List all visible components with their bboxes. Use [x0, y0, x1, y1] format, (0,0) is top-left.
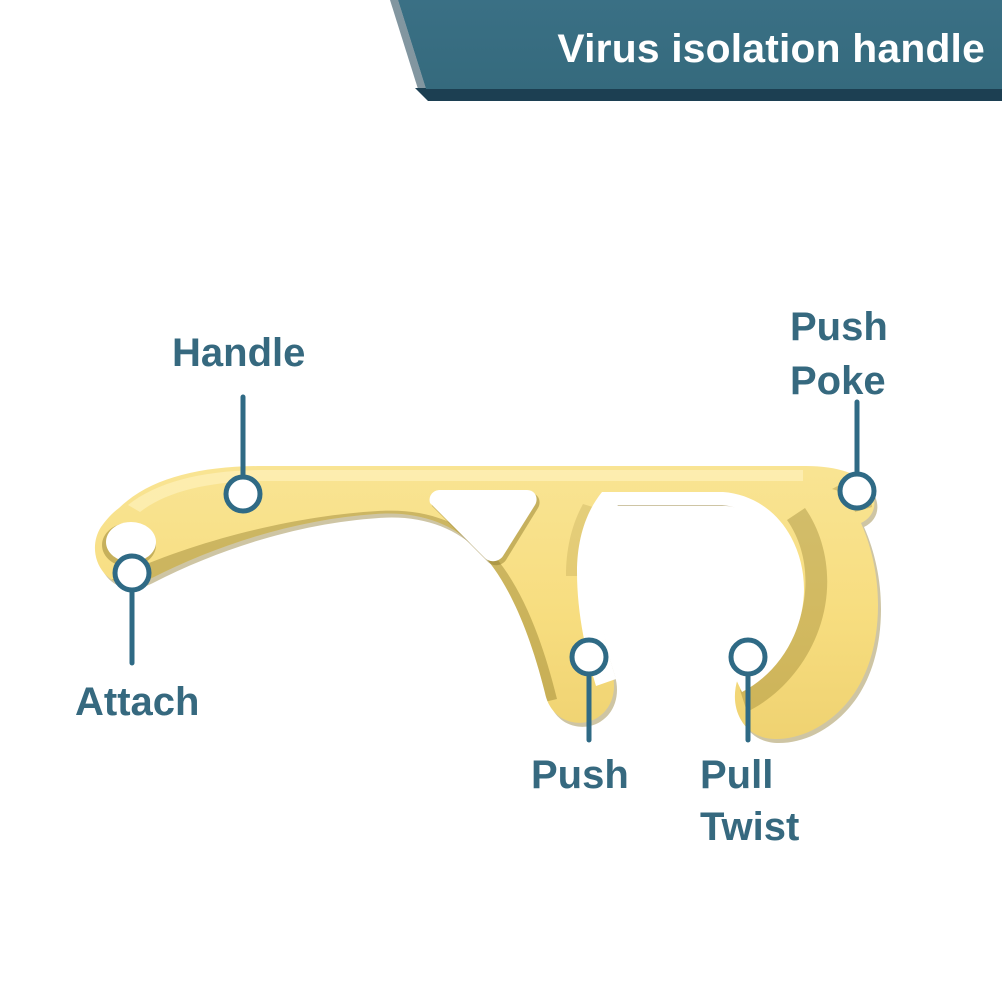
- header-banner: Virus isolation handle: [390, 0, 1002, 101]
- callout-attach-marker[interactable]: [115, 556, 149, 590]
- callout-pull-twist-label-line1: Pull: [700, 753, 773, 797]
- callout-pull-twist-label-line2: Twist: [700, 805, 799, 849]
- virus-isolation-handle-illustration: Virus isolation handle: [0, 0, 1002, 1002]
- callout-handle-label: Handle: [172, 331, 305, 375]
- callout-handle-marker[interactable]: [226, 477, 260, 511]
- hook-opening: [577, 492, 804, 692]
- callout-attach-label: Attach: [75, 680, 199, 724]
- callout-push-label: Push: [531, 753, 629, 797]
- illustration-canvas: Virus isolation handle: [0, 0, 1002, 1002]
- callout-pull-twist-marker[interactable]: [731, 640, 765, 674]
- callout-push-poke-label-line2: Poke: [790, 359, 886, 403]
- callout-push-poke-label-line1: Push: [790, 305, 888, 349]
- callout-push-marker[interactable]: [572, 640, 606, 674]
- callout-attach[interactable]: Attach: [75, 556, 199, 724]
- page-title: Virus isolation handle: [557, 25, 985, 71]
- handle-product: [95, 466, 881, 743]
- callout-push-poke-marker[interactable]: [840, 474, 874, 508]
- banner-shadow-stripe: [415, 88, 1002, 101]
